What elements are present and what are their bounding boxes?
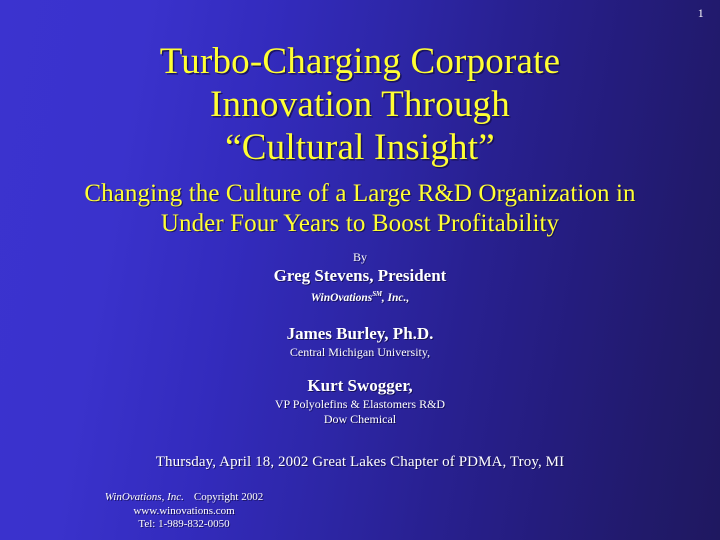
- spacer: [0, 306, 720, 323]
- subtitle-line-1: Changing the Culture of a Large R&D Orga…: [0, 179, 720, 209]
- footer-website: www.winovations.com: [34, 505, 334, 519]
- by-label: By: [0, 249, 720, 265]
- author-entry-3: Kurt Swogger, VP Polyolefins & Elastomer…: [0, 375, 720, 427]
- slide-subtitle: Changing the Culture of a Large R&D Orga…: [0, 179, 720, 239]
- footer-copyright-line: WinOvations, Inc.Copyright 2002: [34, 491, 334, 505]
- author-organization-text: WinOvations: [311, 292, 373, 304]
- spacer: [0, 360, 720, 375]
- title-line-2: Innovation Through: [0, 83, 720, 126]
- presentation-slide: 1 Turbo-Charging Corporate Innovation Th…: [0, 0, 720, 540]
- title-line-3: “Cultural Insight”: [0, 126, 720, 169]
- footer-phone: Tel: 1-989-832-0050: [34, 518, 334, 532]
- title-line-1: Turbo-Charging Corporate: [0, 40, 720, 83]
- author-name: Kurt Swogger,: [0, 375, 720, 397]
- author-name: James Burley, Ph.D.: [0, 323, 720, 345]
- author-entry-2: James Burley, Ph.D. Central Michigan Uni…: [0, 323, 720, 360]
- event-details: Thursday, April 18, 2002 Great Lakes Cha…: [0, 453, 720, 472]
- slide-title: Turbo-Charging Corporate Innovation Thro…: [0, 40, 720, 169]
- footer-copyright: Copyright 2002: [194, 491, 263, 503]
- author-organization-second: Dow Chemical: [0, 412, 720, 427]
- footer-company-name: WinOvations, Inc.: [105, 491, 184, 503]
- author-organization-suffix: , Inc.,: [382, 292, 409, 304]
- author-organization: WinOvationsSM, Inc.,: [0, 287, 720, 306]
- service-mark: SM: [372, 290, 382, 298]
- author-organization: VP Polyolefins & Elastomers R&D: [0, 397, 720, 412]
- author-organization: Central Michigan University,: [0, 345, 720, 360]
- footer: WinOvations, Inc.Copyright 2002 www.wino…: [34, 491, 334, 532]
- authors-list: By Greg Stevens, President WinOvationsSM…: [0, 249, 720, 427]
- author-entry-1: Greg Stevens, President WinOvationsSM, I…: [0, 265, 720, 306]
- subtitle-line-2: Under Four Years to Boost Profitability: [0, 209, 720, 239]
- page-number: 1: [698, 6, 704, 20]
- author-name: Greg Stevens, President: [0, 265, 720, 287]
